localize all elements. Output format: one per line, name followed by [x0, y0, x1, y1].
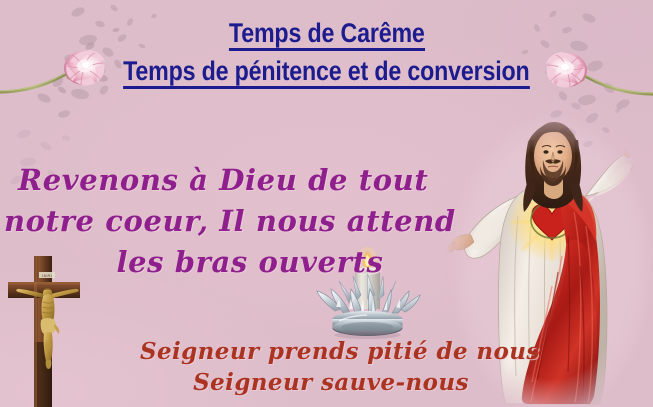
prayer-line-1: Seigneur prends pitié de nous — [140, 336, 520, 367]
headline-line-1: Temps de Carême — [229, 20, 425, 51]
headline-line-2-wrap: Temps de pénitence et de conversion — [0, 58, 653, 89]
verse-line-3: les bras ouverts — [0, 242, 420, 283]
headline-line-1-wrap: Temps de Carême — [0, 20, 653, 51]
headline-line-2: Temps de pénitence et de conversion — [123, 58, 529, 89]
prayer-block: Seigneur prends pitié de nous Seigneur s… — [140, 336, 520, 398]
verse-line-2: notre coeur, Il nous attend — [0, 201, 420, 242]
headline-block: Temps de Carême Temps de pénitence et de… — [0, 20, 653, 89]
petal-speckle-cluster-upper-right — [528, 92, 643, 187]
verse-block: Revenons à Dieu de tout notre coeur, Il … — [0, 160, 420, 283]
verse-line-1: Revenons à Dieu de tout — [0, 160, 420, 201]
prayer-line-2: Seigneur sauve-nous — [140, 367, 520, 398]
greeting-card: I.N.R.I — [0, 0, 653, 407]
